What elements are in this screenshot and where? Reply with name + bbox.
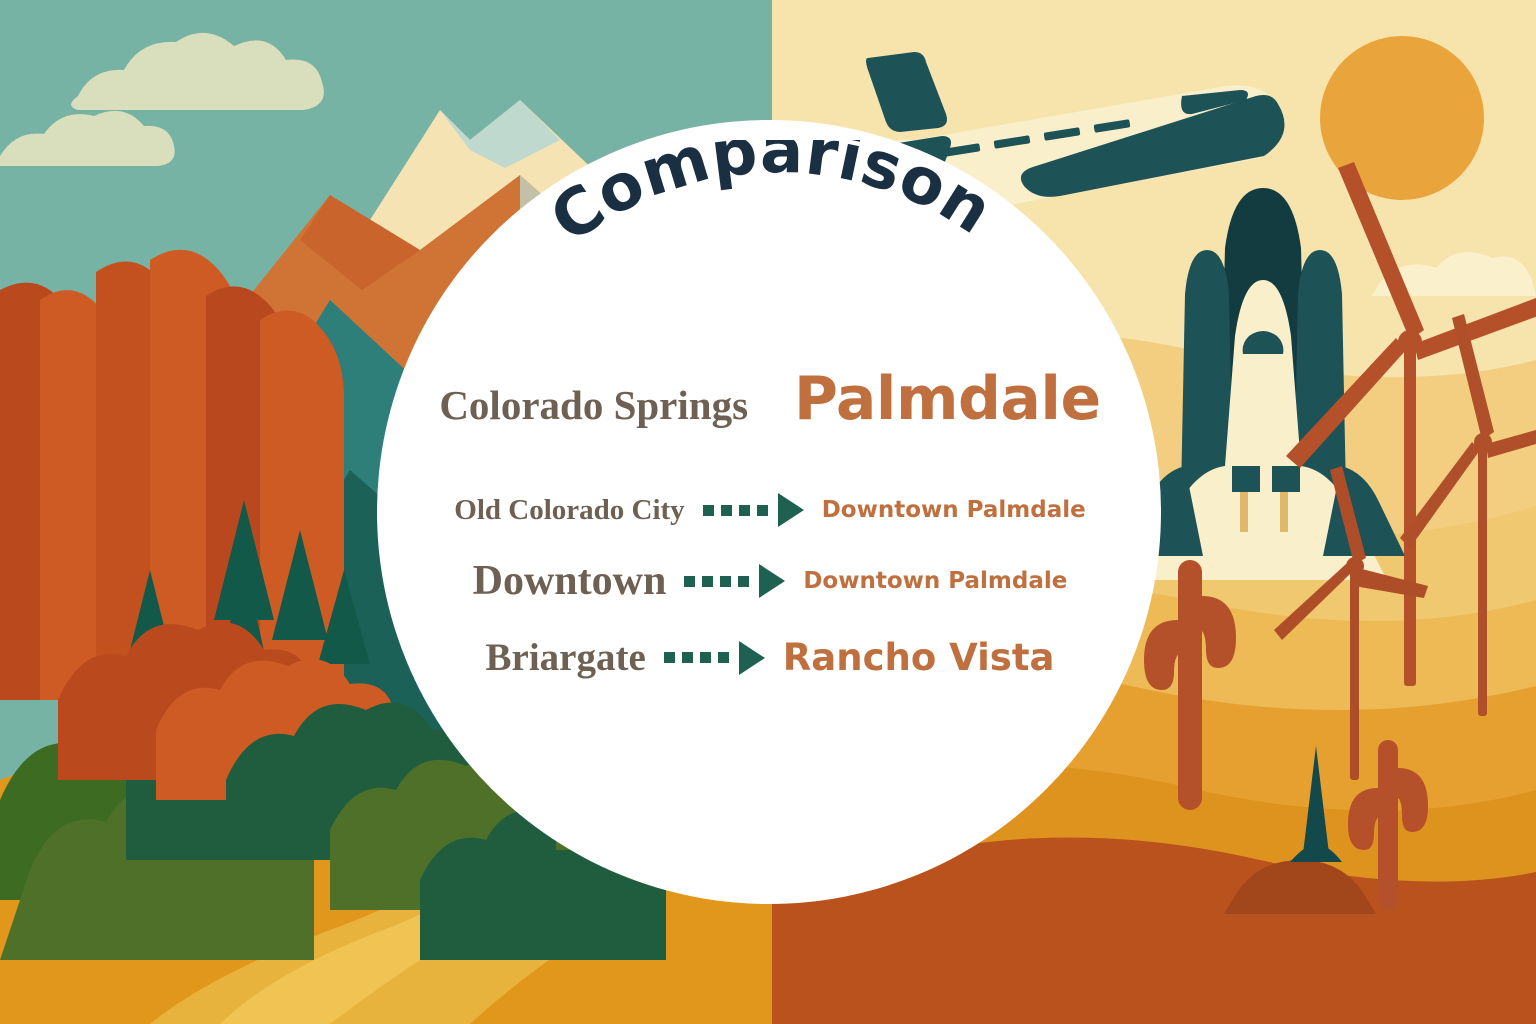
right-neighborhood: Downtown Palmdale — [822, 497, 1086, 523]
infographic-canvas: Neighborhood Comparison Colorado Springs… — [0, 0, 1536, 1024]
right-neighborhood: Rancho Vista — [783, 636, 1055, 679]
dashed-arrow-right-icon — [699, 493, 808, 527]
left-city-name: Colorado Springs — [439, 381, 748, 429]
left-neighborhood: Downtown — [473, 557, 667, 605]
dashed-arrow-right-icon — [660, 641, 769, 675]
city-header-row: Colorado Springs Palmdale — [400, 372, 1140, 429]
right-city-name: Palmdale — [794, 372, 1101, 426]
neighborhood-pair-row: Briargate Rancho Vista — [400, 635, 1140, 680]
neighborhood-pair-row: Old Colorado City Downtown Palmdale — [400, 493, 1140, 527]
left-neighborhood: Old Colorado City — [454, 494, 684, 527]
dashed-arrow-right-icon — [680, 564, 789, 598]
left-neighborhood: Briargate — [486, 635, 646, 680]
neighborhood-pair-row: Downtown Downtown Palmdale — [400, 557, 1140, 605]
right-neighborhood: Downtown Palmdale — [803, 568, 1067, 594]
comparison-panel: Colorado Springs Palmdale Old Colorado C… — [400, 372, 1140, 710]
